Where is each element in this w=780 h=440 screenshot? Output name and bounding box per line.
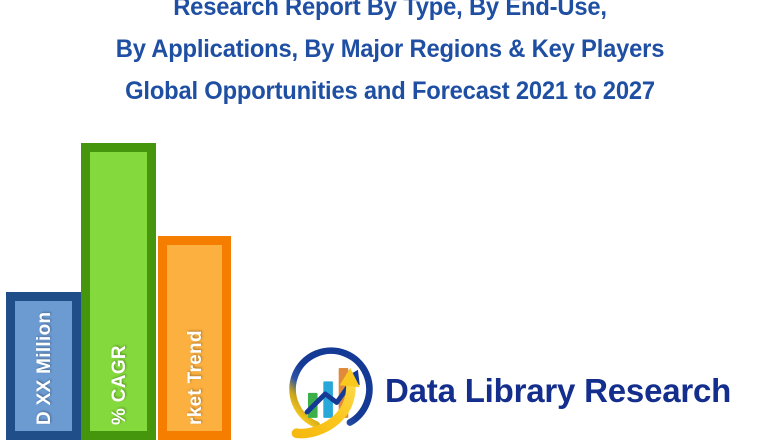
- bar-label-usd-xx-million: D XX Million: [23, 312, 45, 425]
- brand-name: Data Library Research: [385, 372, 731, 410]
- bar-chart: D XX Million % CAGR rket Trend: [0, 140, 250, 440]
- bar-market-trend: rket Trend: [158, 236, 231, 440]
- heading-line-3: Global Opportunities and Forecast 2021 t…: [20, 70, 761, 112]
- bar-usd-xx-million: D XX Million: [6, 292, 81, 440]
- data-library-research-logo-icon: [283, 343, 379, 439]
- bar-label-percent-cagr: % CAGR: [98, 345, 120, 425]
- bar-percent-cagr: % CAGR: [81, 143, 156, 440]
- bar-label-market-trend: rket Trend: [174, 330, 196, 425]
- heading-line-2: By Applications, By Major Regions & Key …: [20, 28, 761, 70]
- poster-canvas: Research Report By Type, By End-Use, By …: [0, 0, 780, 440]
- brand-logo[interactable]: Data Library Research: [283, 341, 731, 440]
- page-title: Research Report By Type, By End-Use, By …: [0, 0, 780, 112]
- heading-line-1: Research Report By Type, By End-Use,: [20, 0, 761, 28]
